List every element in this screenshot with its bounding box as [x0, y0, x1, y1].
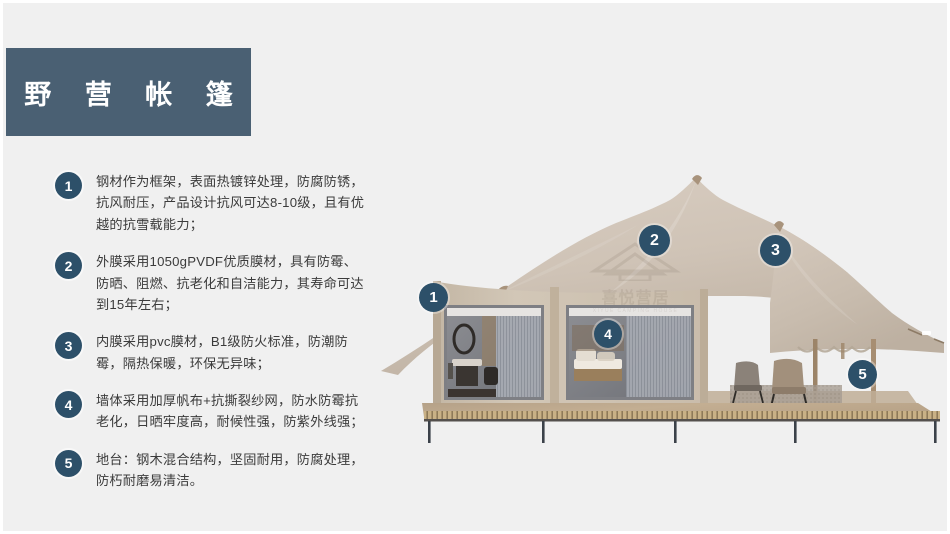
- slide-canvas: 野 营 帐 篷 1 钢材作为框架，表面热镀锌处理，防腐防锈，抗风耐压，产品设计抗…: [0, 0, 950, 534]
- list-item: 2 外膜采用1050gPVDF优质膜材，具有防霉、防晒、阻燃、抗老化和自洁能力，…: [55, 251, 370, 315]
- feature-text-5: 地台：钢木混合结构，坚固耐用，防腐处理，防朽耐磨易清洁。: [96, 449, 370, 492]
- callout-badge-4[interactable]: 4: [594, 320, 622, 348]
- feature-number-badge-1: 1: [55, 172, 82, 199]
- window-bathroom: [444, 305, 544, 400]
- feature-number-badge-2: 2: [55, 252, 82, 279]
- callout-badge-1[interactable]: 1: [419, 283, 448, 312]
- feature-text-1: 钢材作为框架，表面热镀锌处理，防腐防锈，抗风耐压，产品设计抗风可达8-10级，且…: [96, 171, 370, 235]
- list-item: 4 墙体采用加厚帆布+抗撕裂纱网，防水防霉抗老化，日晒牢度高，耐候性强，防紫外线…: [55, 390, 370, 433]
- callout-badge-5[interactable]: 5: [848, 360, 877, 389]
- feature-number-badge-3: 3: [55, 332, 82, 359]
- list-item: 1 钢材作为框架，表面热镀锌处理，防腐防锈，抗风耐压，产品设计抗风可达8-10级…: [55, 171, 370, 235]
- list-item: 3 内膜采用pvc膜材，B1级防火标准，防潮防霉，隔热保暖，环保无异味；: [55, 331, 370, 374]
- feature-text-3: 内膜采用pvc膜材，B1级防火标准，防潮防霉，隔热保暖，环保无异味；: [96, 331, 370, 374]
- page-title: 野 营 帐 篷: [11, 73, 246, 112]
- feature-text-4: 墙体采用加厚帆布+抗撕裂纱网，防水防霉抗老化，日晒牢度高，耐候性强，防紫外线强；: [96, 390, 370, 433]
- callout-badge-2[interactable]: 2: [639, 225, 670, 256]
- callout-badge-3[interactable]: 3: [760, 235, 791, 266]
- feature-number-badge-5: 5: [55, 450, 82, 477]
- list-item: 5 地台：钢木混合结构，坚固耐用，防腐处理，防朽耐磨易清洁。: [55, 449, 370, 492]
- page-title-banner: 野 营 帐 篷: [6, 48, 251, 136]
- inner-membrane-canopy-right: [770, 221, 944, 353]
- feature-number-badge-4: 4: [55, 391, 82, 418]
- tent-illustration: [378, 153, 948, 443]
- feature-list: 1 钢材作为框架，表面热镀锌处理，防腐防锈，抗风耐压，产品设计抗风可达8-10级…: [55, 171, 370, 492]
- window-bedroom: [566, 305, 694, 400]
- deck-platform: [422, 403, 940, 443]
- feature-text-2: 外膜采用1050gPVDF优质膜材，具有防霉、防晒、阻燃、抗老化和自洁能力，其寿…: [96, 251, 370, 315]
